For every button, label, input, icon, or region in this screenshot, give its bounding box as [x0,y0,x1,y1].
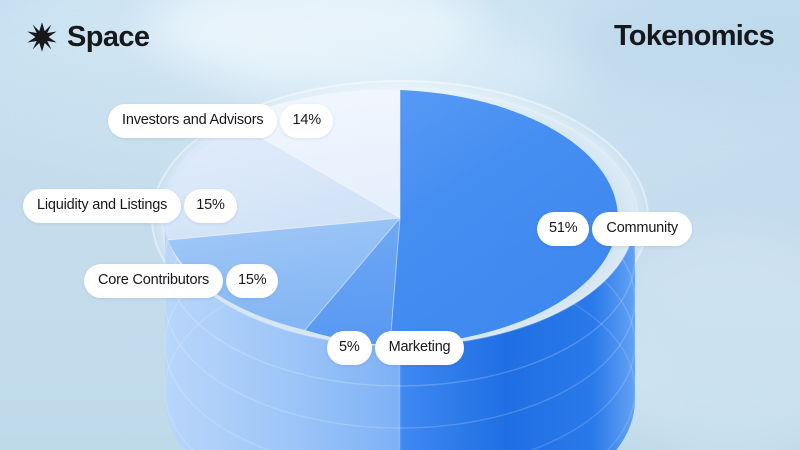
pie-label-core-contributors[interactable]: Core Contributors 15% [84,264,278,298]
pie-label-liquidity-value: 15% [184,189,236,223]
brand-logo[interactable]: Space [26,21,149,53]
asterisk-star-icon [26,21,58,53]
pie-label-investors-name: Investors and Advisors [108,104,277,138]
pie-label-core-contributors-name: Core Contributors [84,264,223,298]
pie-label-liquidity-name: Liquidity and Listings [23,189,181,223]
pie-label-core-contributors-value: 15% [226,264,278,298]
pie-label-investors[interactable]: Investors and Advisors 14% [108,104,333,138]
pie-label-marketing-value: 5% [327,331,372,365]
pie-label-community[interactable]: 51% Community [537,212,692,246]
brand-name: Space [67,23,149,52]
pie-label-marketing-name: Marketing [375,331,465,365]
pie-label-liquidity[interactable]: Liquidity and Listings 15% [23,189,237,223]
page-title: Tokenomics [614,22,774,51]
pie-label-community-name: Community [592,212,692,246]
pie-label-investors-value: 14% [280,104,332,138]
pie-label-community-value: 51% [537,212,589,246]
slide-canvas: Space Tokenomics [0,0,800,450]
pie-label-marketing[interactable]: 5% Marketing [327,331,464,365]
